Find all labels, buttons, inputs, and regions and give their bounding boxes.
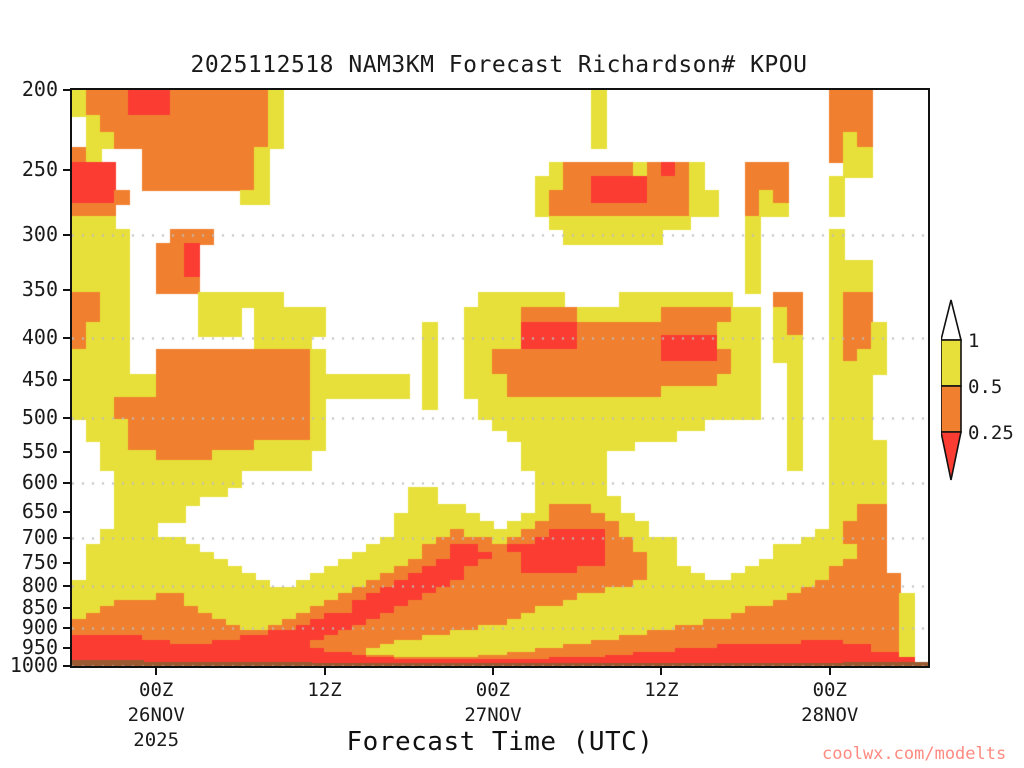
y-axis-tick-label: 350 — [0, 277, 58, 301]
y-axis-tick-mark — [63, 607, 72, 609]
x-axis-tick-mark — [660, 666, 662, 675]
y-axis-tick-label: 450 — [0, 367, 58, 391]
y-axis-tick-label: 300 — [0, 222, 58, 246]
y-axis-tick-mark — [63, 627, 72, 629]
plot-area — [70, 88, 930, 668]
x-axis-tick-mark — [155, 666, 157, 675]
colorbar-label-0p25: 0.25 — [968, 422, 1014, 444]
y-axis-tick-mark — [63, 511, 72, 513]
colorbar: 1 0.5 0.25 — [941, 298, 1024, 488]
y-axis-tick-mark — [63, 169, 72, 171]
y-axis-tick-label: 600 — [0, 470, 58, 494]
x-axis-tick-mark — [324, 666, 326, 675]
y-axis-tick-label: 550 — [0, 439, 58, 463]
y-axis-tick-label: 800 — [0, 573, 58, 597]
chart-title: 2025112518 NAM3KM Forecast Richardson# K… — [0, 52, 1024, 78]
y-axis-tick-mark — [63, 379, 72, 381]
y-axis-tick-mark — [63, 562, 72, 564]
x-axis-tick-label: 00Z 27NOV — [413, 678, 573, 728]
y-axis-tick-label: 750 — [0, 550, 58, 574]
chart-root: 2025112518 NAM3KM Forecast Richardson# K… — [0, 0, 1024, 768]
y-axis-tick-mark — [63, 289, 72, 291]
y-axis-tick-mark — [63, 537, 72, 539]
y-axis-tick-mark — [63, 647, 72, 649]
y-axis-tick-label: 400 — [0, 325, 58, 349]
colorbar-under-arrow — [941, 432, 961, 480]
y-axis-tick-mark — [63, 482, 72, 484]
colorbar-band-yellow — [941, 340, 961, 386]
watermark: coolwx.com/modelts — [822, 744, 1006, 764]
gridlines-canvas — [72, 90, 928, 666]
y-axis-tick-mark — [63, 665, 72, 667]
y-axis-tick-mark — [63, 417, 72, 419]
x-axis-tick-label: 12Z — [245, 678, 405, 703]
x-axis-tick-label: 12Z — [581, 678, 741, 703]
y-axis-tick-label: 250 — [0, 157, 58, 181]
colorbar-label-1: 1 — [968, 330, 979, 352]
x-axis-title-text: Forecast Time (UTC) — [347, 727, 654, 757]
y-axis-tick-label: 700 — [0, 525, 58, 549]
x-axis-tick-mark — [829, 666, 831, 675]
y-axis-tick-mark — [63, 89, 72, 91]
y-axis-tick-label: 1000 — [0, 653, 58, 677]
x-axis-tick-mark — [492, 666, 494, 675]
colorbar-band-orange — [941, 386, 961, 432]
y-axis-tick-mark — [63, 234, 72, 236]
y-axis-tick-mark — [63, 585, 72, 587]
x-axis-tick-label: 00Z 28NOV — [750, 678, 910, 728]
y-axis-tick-label: 200 — [0, 77, 58, 101]
y-axis-tick-label: 500 — [0, 405, 58, 429]
colorbar-over-arrow — [941, 300, 961, 340]
colorbar-label-0p5: 0.5 — [968, 376, 1002, 398]
chart-title-text: 2025112518 NAM3KM Forecast Richardson# K… — [191, 52, 808, 78]
y-axis-tick-label: 650 — [0, 499, 58, 523]
y-axis-tick-mark — [63, 451, 72, 453]
y-axis-tick-mark — [63, 337, 72, 339]
